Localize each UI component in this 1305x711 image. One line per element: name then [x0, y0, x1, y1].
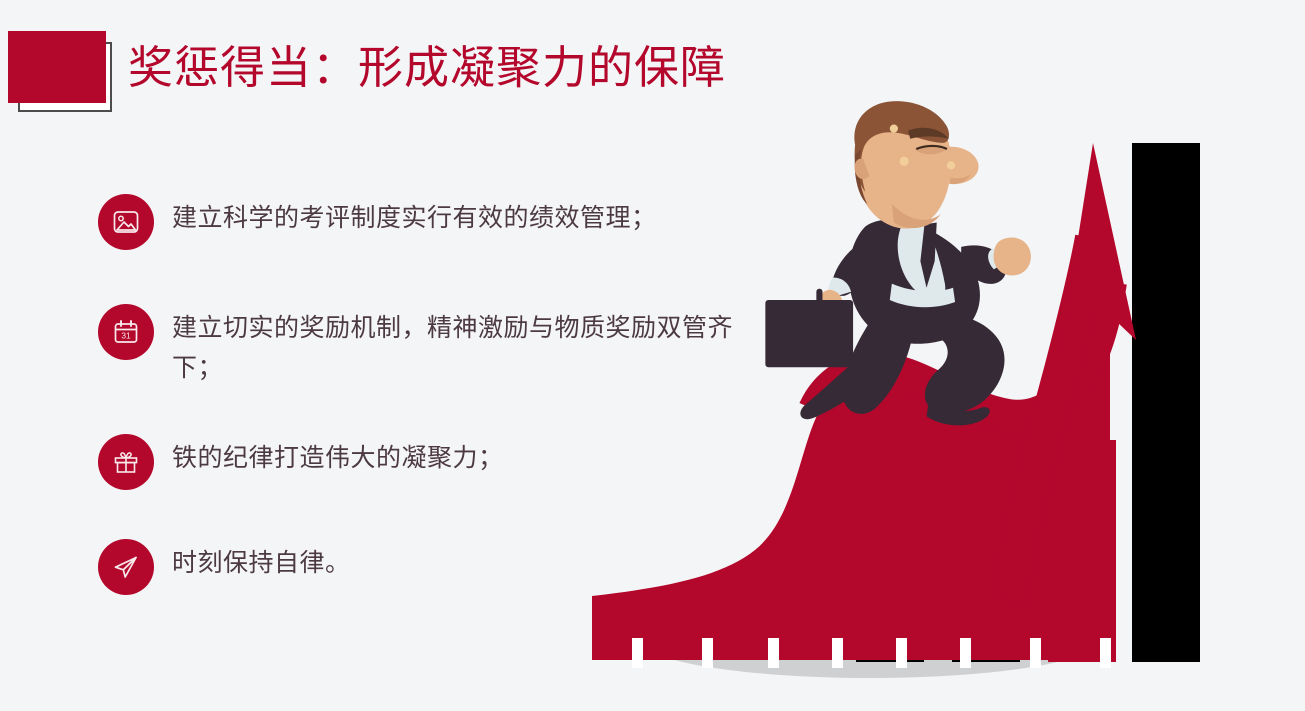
axis-tick: [960, 638, 971, 668]
axis-tick: [1100, 638, 1111, 668]
character-highlight: [890, 125, 898, 133]
character-highlight: [947, 161, 955, 169]
illustration-svg: [540, 80, 1305, 700]
image-icon: [98, 194, 154, 250]
gift-icon: [98, 434, 154, 490]
growth-illustration: [540, 80, 1305, 700]
running-businessman: [765, 101, 1031, 425]
axis-tick: [632, 638, 643, 668]
calendar-icon: 31: [98, 304, 154, 360]
slide-canvas: 奖惩得当：形成凝聚力的保障 建立科学的考评制度实行有效的绩效管理；: [0, 0, 1305, 711]
calendar-day-number: 31: [121, 331, 131, 341]
list-item-label: 时刻保持自律。: [172, 537, 351, 583]
bar-4: [1132, 143, 1200, 662]
axis-tick: [832, 638, 843, 668]
axis-tick: [768, 638, 779, 668]
character-fist: [994, 238, 1031, 276]
briefcase: [765, 300, 853, 367]
axis-tick: [896, 638, 907, 668]
title-solid-square: [8, 31, 106, 103]
axis-tick: [1030, 638, 1041, 668]
axis-tick: [702, 638, 713, 668]
character-highlight: [899, 157, 908, 166]
list-item-label: 铁的纪律打造伟大的凝聚力；: [172, 432, 504, 478]
paper-plane-icon: [98, 539, 154, 595]
